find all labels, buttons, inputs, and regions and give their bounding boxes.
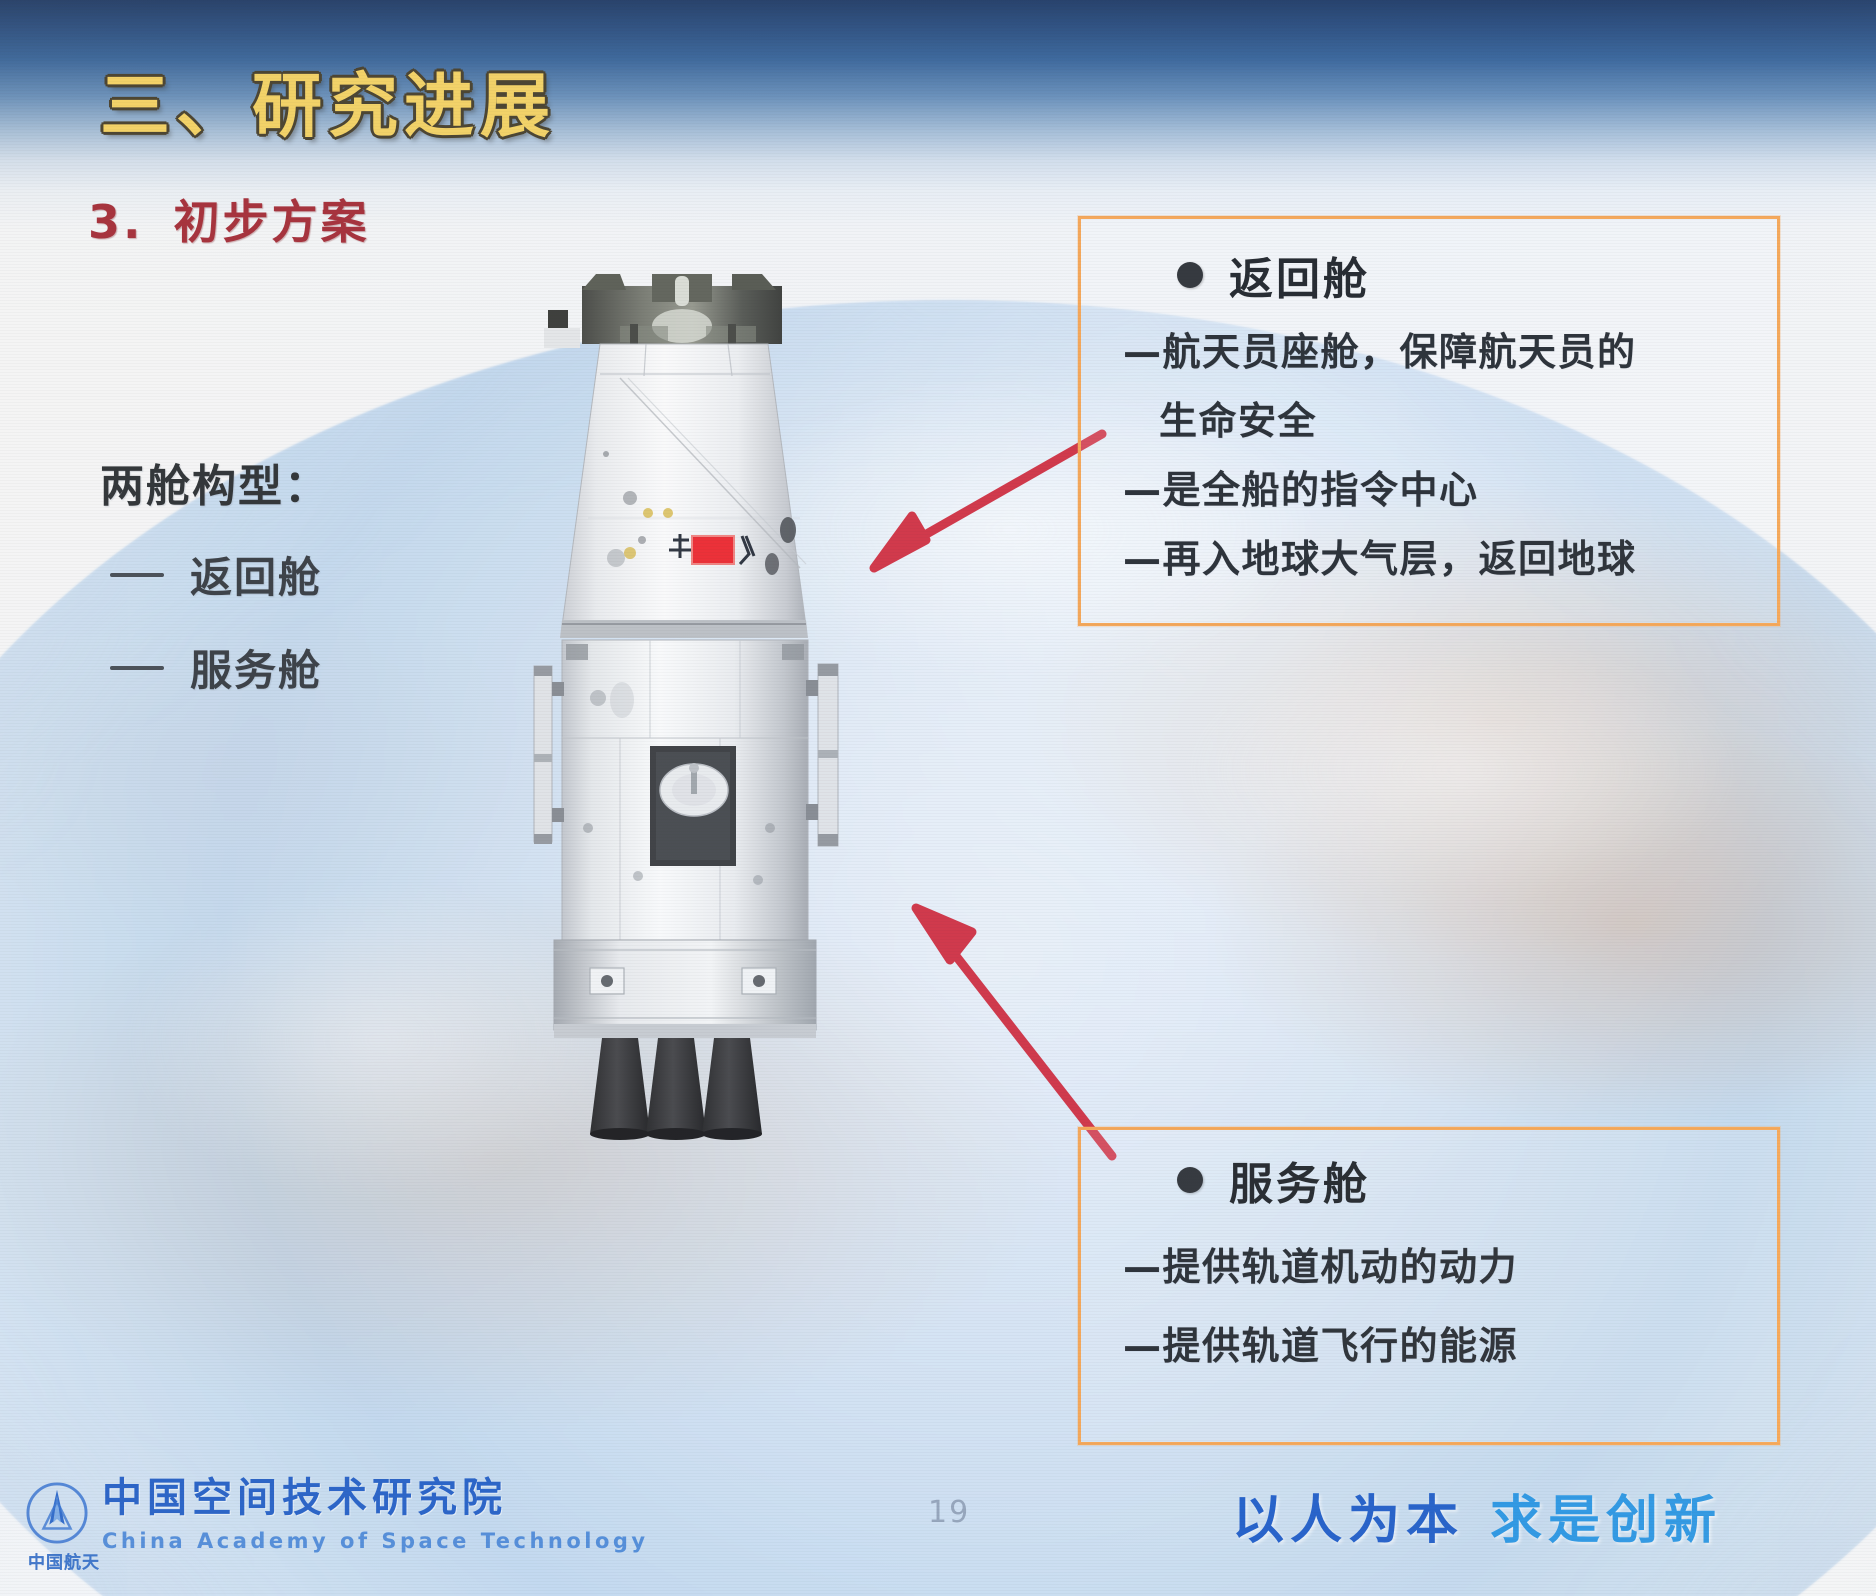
list-item-label: 服务舱 [190,637,322,698]
spacecraft-illustration [470,268,890,1148]
callout-line: —再入地球大气层，返回地球 [1123,528,1777,583]
callout-heading: 服务舱 [1177,1148,1777,1212]
filled-circle-bullet-icon [1177,262,1203,288]
list-item: 服务舱 [110,637,330,698]
org-mark-cn: 中国航天 [28,1548,100,1573]
callout-line: —航天员座舱，保障航天员的 [1123,321,1777,376]
page-number: 19 [928,1495,970,1530]
org-name-en: China Academy of Space Technology [102,1529,649,1553]
side-rail-left [534,666,564,844]
list-item-label: 返回舱 [190,544,322,605]
callout-box-return-capsule: 返回舱 —航天员座舱，保障航天员的 生命安全 —是全船的指令中心 —再入地球大气… [1078,216,1780,626]
list-item: 返回舱 [110,544,330,605]
subtitle-text: 初步方案 [173,195,369,249]
slide-canvas: 三、研究进展 3.初步方案 两舱构型： 返回舱 服务舱 [0,0,1876,1596]
dish-antenna [660,763,728,816]
filled-circle-bullet-icon [1177,1167,1203,1193]
return-capsule-body [560,344,808,638]
aft-equipment-ring [554,940,816,1038]
callout-title: 服务舱 [1229,1148,1370,1212]
org-name-cn: 中国空间技术研究院 [102,1478,649,1518]
cloud-patch-2 [1180,640,1740,900]
dash-icon [110,666,164,670]
slide-subtitle: 3.初步方案 [88,186,369,252]
callout-heading: 返回舱 [1177,243,1777,307]
slide-title: 三、研究进展 [100,50,556,151]
engine-nozzles [590,1038,762,1140]
dash-icon [110,573,164,577]
cast-rocket-logo-icon [26,1482,88,1544]
slogan-part-2: 求是创新 [1490,1490,1722,1551]
slogan-part-1: 以人为本 [1232,1490,1464,1551]
callout-title: 返回舱 [1229,243,1370,307]
configuration-list: 两舱构型： 返回舱 服务舱 [100,450,330,730]
footer-branding: 中国空间技术研究院 China Academy of Space Technol… [26,1478,649,1553]
service-module-body [534,640,838,940]
subtitle-number: 3. [88,195,143,249]
footer-slogan: 以人为本求是创新 [1232,1478,1722,1553]
callout-box-service-module: 服务舱 —提供轨道机动的动力 —提供轨道飞行的能源 [1078,1127,1780,1445]
callout-line: —提供轨道飞行的能源 [1123,1315,1777,1370]
docking-adapter [544,274,782,348]
callout-line: —是全船的指令中心 [1123,459,1777,514]
callout-line: —提供轨道机动的动力 [1123,1236,1777,1291]
callout-line: 生命安全 [1159,390,1777,445]
side-rail-right [806,664,838,846]
configuration-heading: 两舱构型： [100,450,330,514]
